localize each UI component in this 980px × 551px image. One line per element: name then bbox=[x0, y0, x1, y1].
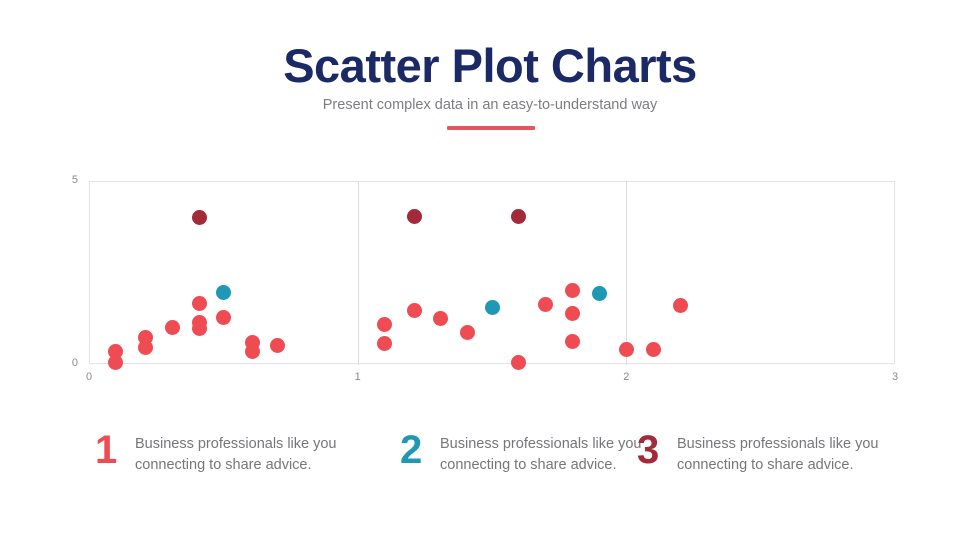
x-tick-1: 1 bbox=[338, 371, 378, 384]
data-point bbox=[646, 342, 661, 357]
data-point bbox=[511, 355, 526, 370]
data-point bbox=[270, 338, 285, 353]
data-point bbox=[407, 209, 422, 224]
footer-item-number: 1 bbox=[95, 424, 117, 476]
footer-item-number: 2 bbox=[400, 424, 422, 476]
data-point bbox=[407, 303, 422, 318]
data-point bbox=[619, 342, 634, 357]
data-point bbox=[565, 306, 580, 321]
slide-footer: 1Business professionals like you connect… bbox=[0, 430, 980, 490]
data-point bbox=[165, 320, 180, 335]
data-point bbox=[485, 300, 500, 315]
x-tick-2: 2 bbox=[606, 371, 646, 384]
plot-area bbox=[89, 181, 895, 364]
x-tick-0: 0 bbox=[69, 371, 109, 384]
footer-item-text: Business professionals like you connecti… bbox=[440, 434, 655, 476]
footer-item-text: Business professionals like you connecti… bbox=[677, 434, 892, 476]
data-point bbox=[673, 298, 688, 313]
data-point bbox=[192, 210, 207, 225]
slide-root: Scatter Plot Charts Present complex data… bbox=[0, 0, 980, 551]
footer-item-text: Business professionals like you connecti… bbox=[135, 434, 350, 476]
y-tick-5: 5 bbox=[48, 174, 78, 187]
x-tick-3: 3 bbox=[875, 371, 915, 384]
data-point bbox=[377, 317, 392, 332]
data-point bbox=[192, 315, 207, 330]
footer-item-number: 3 bbox=[637, 424, 659, 476]
data-point bbox=[538, 297, 553, 312]
gridline-x-1 bbox=[358, 181, 359, 365]
data-point bbox=[565, 334, 580, 349]
gridline-x-2 bbox=[626, 181, 627, 365]
data-point bbox=[138, 340, 153, 355]
data-point bbox=[216, 285, 231, 300]
y-tick-0: 0 bbox=[48, 357, 78, 370]
data-point bbox=[108, 355, 123, 370]
